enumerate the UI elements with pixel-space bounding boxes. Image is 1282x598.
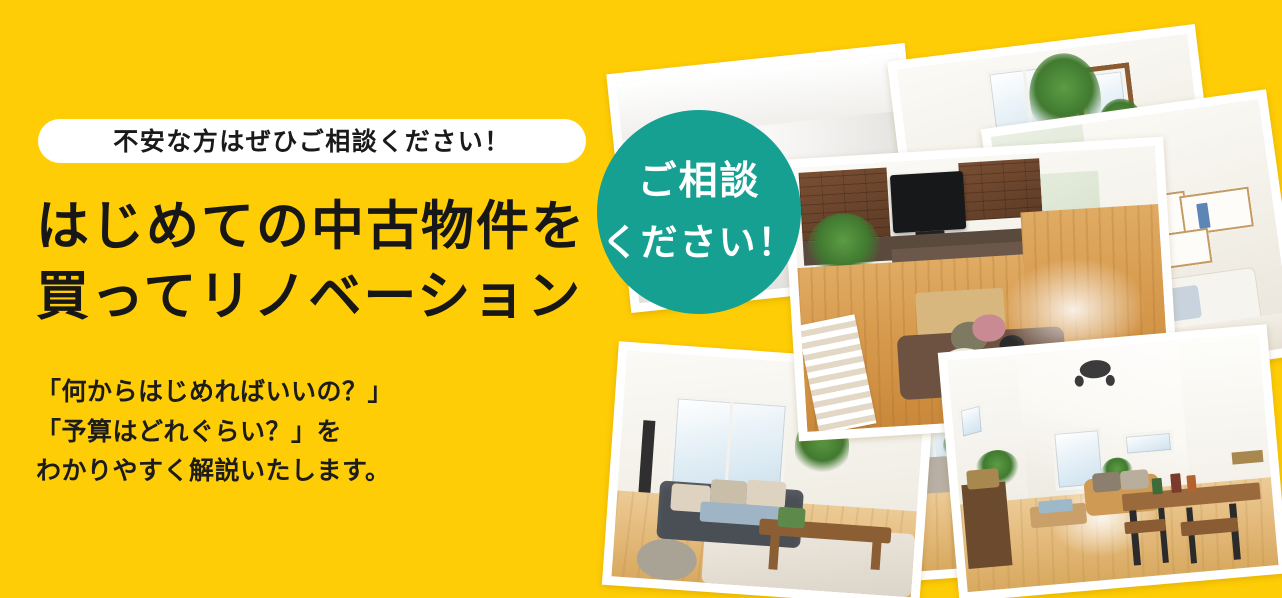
reassurance-badge-label: 不安な方はぜひご相談ください！ [113,129,511,154]
subcopy-line-3: わかりやすく解説いたします。 [36,451,596,491]
hero-banner: ご相談 ください！ 不安な方はぜひご相談ください！ はじめての中古物件を 買って… [0,0,1282,598]
headline-line-2: 買ってリノベーション [36,262,616,332]
speech-bubble-line-2: ください！ [602,216,797,270]
page-title: はじめての中古物件を 買ってリノベーション [36,192,616,333]
hero-copy: 不安な方はぜひご相談ください！ はじめての中古物件を 買ってリノベーション 「何… [0,0,620,598]
speech-bubble-body: ご相談 ください！ [597,110,801,314]
consultation-speech-bubble: ご相談 ください！ [597,110,812,325]
hero-subcopy: 「何からはじめればいいの？」 「予算はどれぐらい？」を わかりやすく解説いたしま… [36,372,596,491]
subcopy-line-2: 「予算はどれぐらい？」を [36,412,596,452]
subcopy-line-1: 「何からはじめればいいの？」 [36,372,596,412]
speech-bubble-line-1: ご相談 [637,154,760,211]
collage-photo-vaulted-living-bar [938,324,1282,598]
reassurance-badge: 不安な方はぜひご相談ください！ [38,119,586,163]
headline-line-1: はじめての中古物件を [36,192,616,262]
